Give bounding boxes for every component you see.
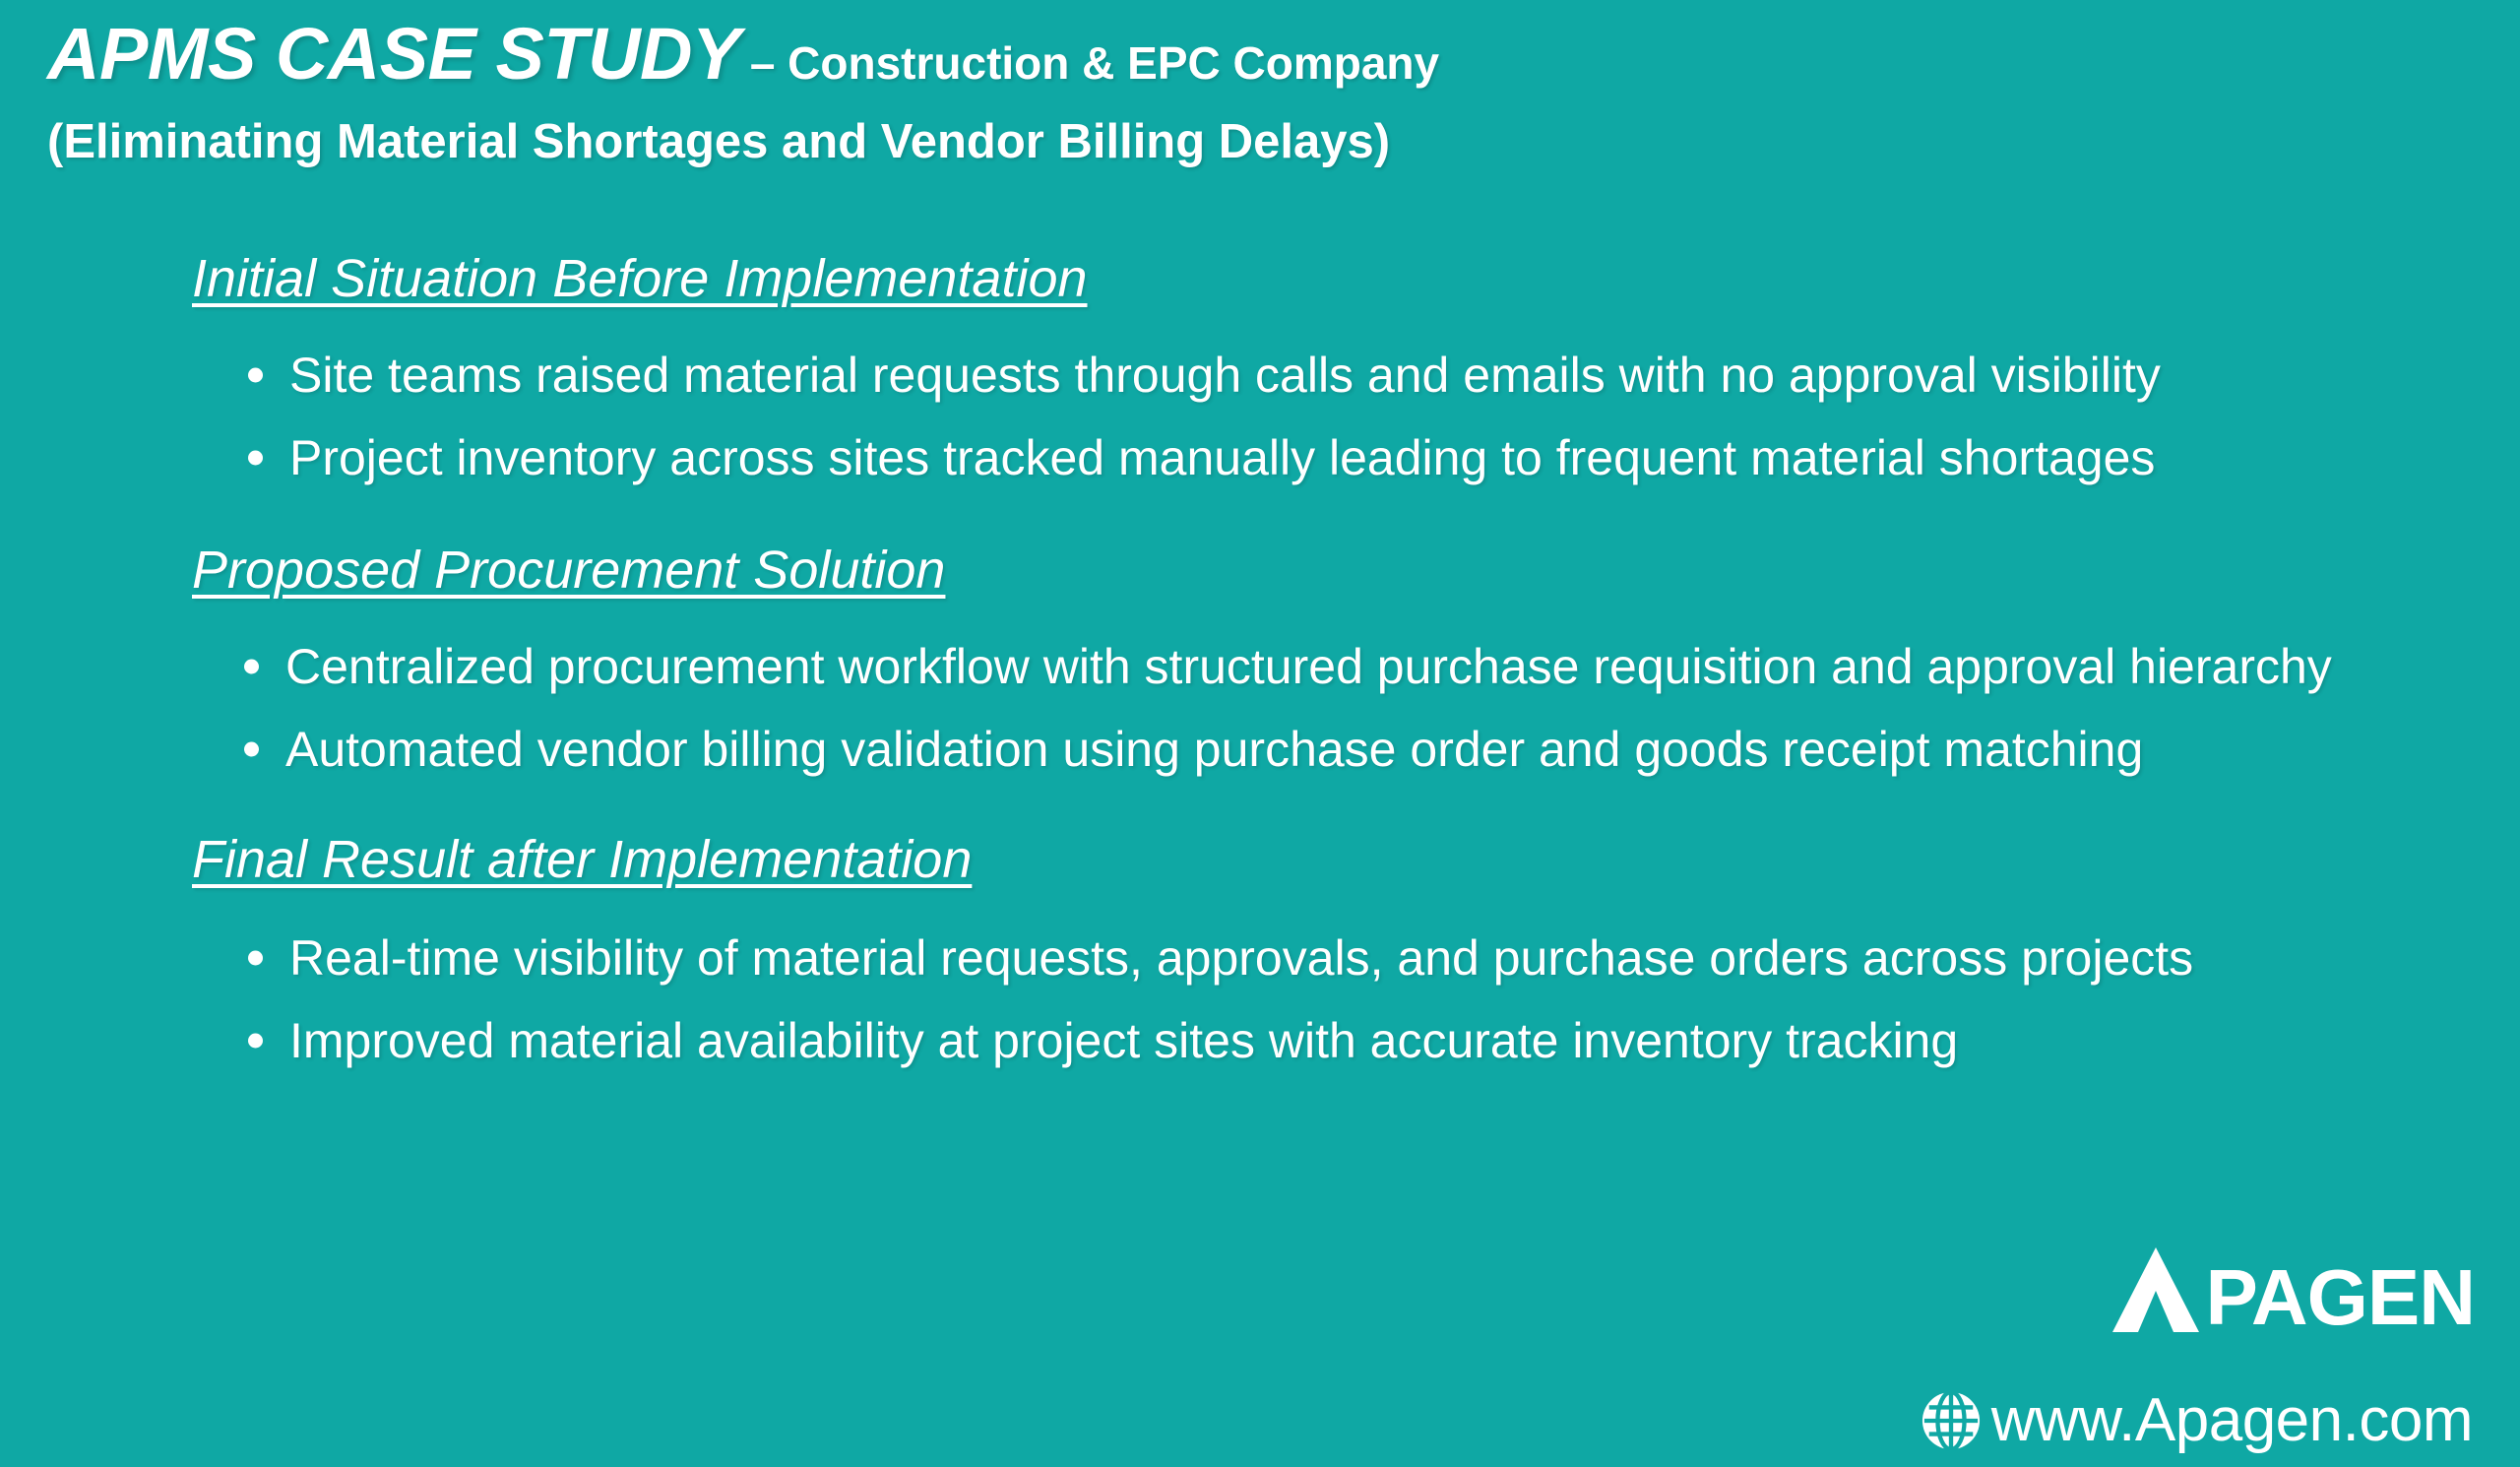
section-heading: Proposed Procurement Solution [192,540,945,601]
bullet-dot-icon [248,368,263,383]
list-item: Automated vendor billing validation usin… [244,725,2520,774]
slide-content: Initial Situation Before Implementation … [0,248,2520,1065]
page-title: APMS CASE STUDY– Construction & EPC Comp… [47,18,2449,91]
title-suffix-text: – Construction & EPC Company [740,37,1439,89]
website-link[interactable]: www.Apagen.com [1921,1390,2473,1451]
globe-icon [1921,1390,1982,1451]
website-url-text: www.Apagen.com [1991,1390,2473,1451]
list-item: Project inventory across sites tracked m… [248,433,2520,482]
list-item: Site teams raised material requests thro… [248,351,2520,400]
apagen-a-mark-icon [2109,1247,2203,1332]
section-initial-situation: Initial Situation Before Implementation … [0,248,2520,482]
section-final-result: Final Result after Implementation Real-t… [0,829,2520,1065]
list-item-label: Improved material availability at projec… [289,1013,1958,1068]
apagen-logo: PAGEN [2109,1247,2475,1332]
bullet-list: Centralized procurement workflow with st… [0,642,2520,774]
list-item-label: Centralized procurement workflow with st… [285,639,2332,694]
section-proposed-solution: Proposed Procurement Solution Centralize… [0,540,2520,774]
list-item-label: Real-time visibility of material request… [289,930,2193,986]
list-item: Improved material availability at projec… [248,1016,2520,1065]
brand-footer: PAGEN www.Apagen.com [1847,1247,2477,1459]
bullet-dot-icon [244,660,259,674]
section-heading: Final Result after Implementation [192,829,972,890]
bullet-list: Site teams raised material requests thro… [0,351,2520,482]
list-item: Real-time visibility of material request… [248,933,2520,983]
bullet-dot-icon [248,1034,263,1049]
title-subtitle: (Eliminating Material Shortages and Vend… [47,114,2449,169]
bullet-dot-icon [248,951,263,966]
title-main-text: APMS CASE STUDY [47,13,740,95]
title-block: APMS CASE STUDY– Construction & EPC Comp… [47,18,2449,169]
list-item: Centralized procurement workflow with st… [244,642,2520,691]
section-heading: Initial Situation Before Implementation [192,248,1088,309]
apagen-logo-text: PAGEN [2205,1264,2475,1332]
list-item-label: Site teams raised material requests thro… [289,348,2161,403]
slide-canvas: APMS CASE STUDY– Construction & EPC Comp… [0,0,2520,1467]
bullet-list: Real-time visibility of material request… [0,933,2520,1065]
list-item-label: Automated vendor billing validation usin… [285,722,2143,777]
list-item-label: Project inventory across sites tracked m… [289,430,2155,485]
bullet-dot-icon [244,742,259,757]
bullet-dot-icon [248,451,263,466]
